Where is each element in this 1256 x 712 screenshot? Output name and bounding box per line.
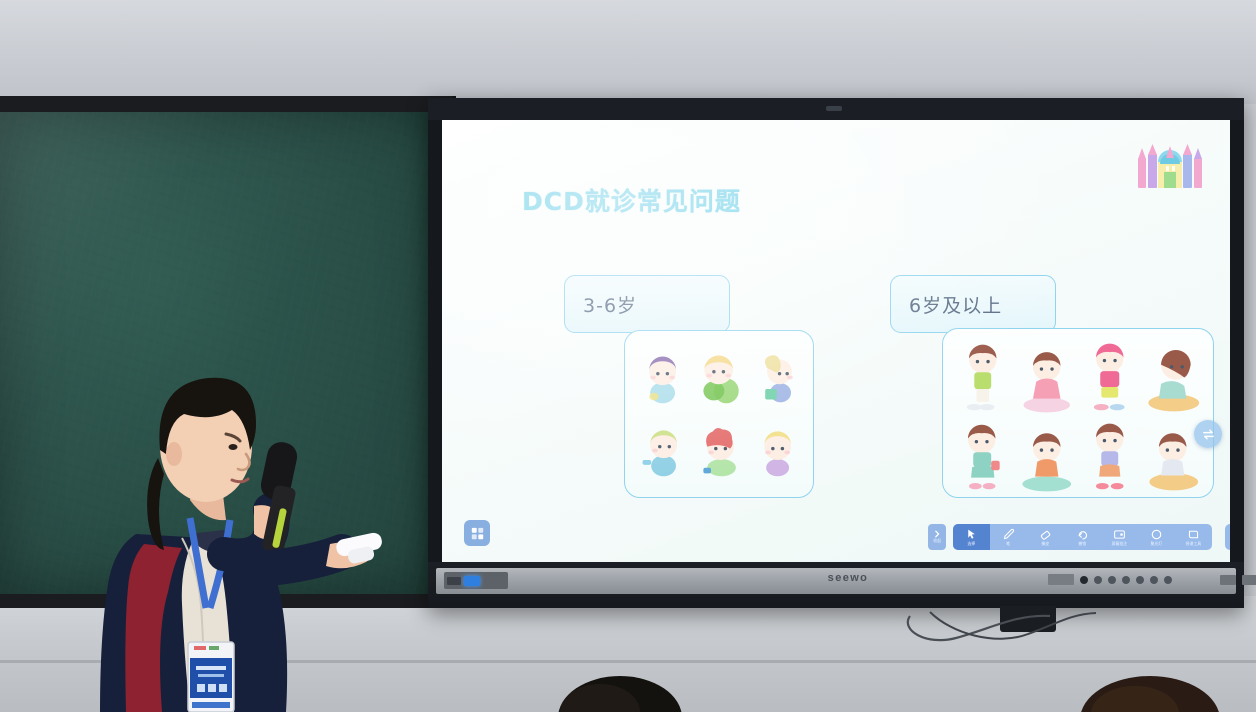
presentation-toolbar: 收起 选择 笔 <box>928 524 1230 550</box>
age-group-tag-2: 6岁及以上 <box>890 275 1056 333</box>
toolbox-icon <box>1187 528 1200 541</box>
age-group-tag-2-label: 6岁及以上 <box>891 291 1002 318</box>
toolbar-tool-group: 选择 笔 橡皮 <box>953 524 1212 550</box>
presentation-slide: DCD就诊常见问题 <box>442 120 1230 562</box>
home-button[interactable] <box>1150 576 1158 584</box>
child-illustration-grid <box>942 328 1214 498</box>
undo-icon <box>1076 528 1089 541</box>
toolbar-collapse-button[interactable]: 收起 <box>928 524 946 550</box>
power-button[interactable] <box>1080 576 1088 584</box>
page-title: DCD就诊常见问题 <box>522 182 741 218</box>
toolbar-collapse-label: 收起 <box>933 540 941 544</box>
source-button[interactable] <box>1136 576 1144 584</box>
illustration-figure <box>1142 339 1206 418</box>
menu-button[interactable] <box>1094 576 1102 584</box>
tool-select[interactable]: 选择 <box>953 524 990 550</box>
eraser-icon <box>1039 528 1052 541</box>
tool-toolbox-label: 授课工具 <box>1186 542 1201 546</box>
pen-icon <box>1002 528 1015 541</box>
presenter <box>78 358 388 712</box>
illustration-figure <box>951 418 1015 497</box>
tool-eraser[interactable]: 橡皮 <box>1027 524 1064 550</box>
illustration-figure <box>1078 339 1142 418</box>
illustration-figure <box>690 341 747 414</box>
power-led <box>464 576 480 586</box>
tool-undo-label: 撤销 <box>1079 542 1087 546</box>
prev-page-button[interactable]: 上一页 <box>1225 524 1230 550</box>
tool-spotlight-label: 聚光灯 <box>1151 542 1163 546</box>
illustration-figure <box>1015 339 1079 418</box>
illustration-figure <box>748 414 805 487</box>
cable-bundle <box>900 604 1130 650</box>
display-brand: seewo <box>788 572 908 584</box>
usb-port <box>1220 575 1236 585</box>
audience-heads <box>0 672 1256 712</box>
grid-icon <box>471 527 484 540</box>
tool-toolbox[interactable]: 授课工具 <box>1175 524 1212 550</box>
illustration-figure <box>1078 418 1142 497</box>
page-thumbnail-button[interactable] <box>464 520 490 546</box>
cursor-icon <box>965 528 978 541</box>
tool-select-label: 选择 <box>968 542 976 546</box>
illustration-figure <box>633 341 690 414</box>
illustration-figure <box>951 339 1015 418</box>
spotlight-icon <box>1150 528 1163 541</box>
chevron-right-icon <box>933 530 941 538</box>
tool-spotlight[interactable]: 聚光灯 <box>1138 524 1175 550</box>
bezel-top <box>428 98 1244 120</box>
age-group-tag-1: 3-6岁 <box>564 275 730 333</box>
castle-logo <box>1134 142 1206 190</box>
control-label-plate <box>1048 574 1074 585</box>
floating-tool-button[interactable] <box>1194 420 1222 448</box>
tool-undo[interactable]: 撤销 <box>1064 524 1101 550</box>
annotate-icon <box>1113 528 1126 541</box>
tool-annotate-label: 屏幕批注 <box>1112 542 1127 546</box>
wall-upper <box>0 0 1256 104</box>
illustration-figure <box>1015 418 1079 497</box>
illustration-figure <box>633 414 690 487</box>
camera-icon <box>826 106 842 111</box>
toddler-illustration-grid <box>624 330 814 498</box>
volume-up-button[interactable] <box>1122 576 1130 584</box>
toolbar-page-nav: 上一页 1 / 28 页码 下一页 <box>1225 524 1230 550</box>
tool-annotate[interactable]: 屏幕批注 <box>1101 524 1138 550</box>
interactive-flat-panel: DCD就诊常见问题 <box>428 98 1244 608</box>
illustration-figure <box>690 414 747 487</box>
front-port-panel[interactable] <box>1048 574 1256 585</box>
tool-pen[interactable]: 笔 <box>990 524 1027 550</box>
hdmi-port <box>1242 575 1256 585</box>
age-group-tag-1-label: 3-6岁 <box>565 291 637 318</box>
swap-icon <box>1201 427 1216 442</box>
tool-eraser-label: 橡皮 <box>1042 542 1050 546</box>
display-screen[interactable]: DCD就诊常见问题 <box>442 120 1230 562</box>
illustration-figure <box>748 341 805 414</box>
classroom-scene: DCD就诊常见问题 <box>0 0 1256 712</box>
back-button[interactable] <box>1164 576 1172 584</box>
tool-pen-label: 笔 <box>1007 542 1011 546</box>
front-control-panel[interactable] <box>444 572 508 589</box>
control-dots <box>447 577 461 585</box>
volume-down-button[interactable] <box>1108 576 1116 584</box>
